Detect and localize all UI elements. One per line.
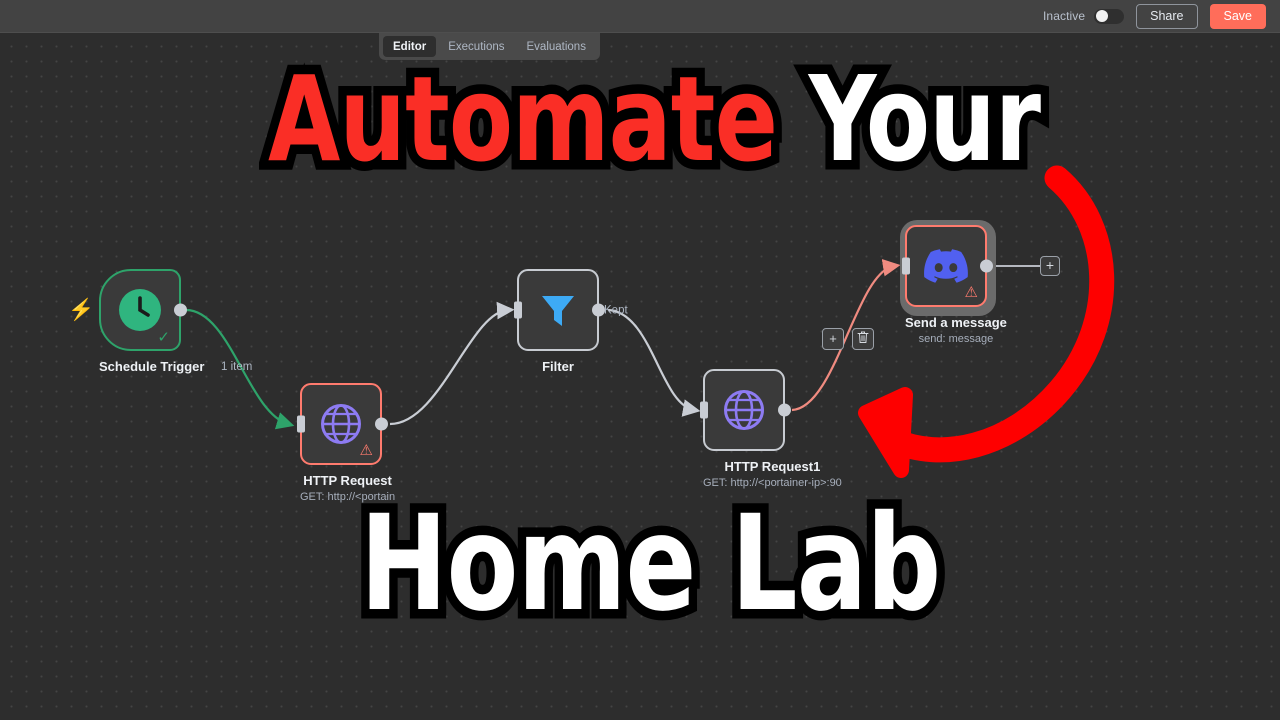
warning-triangle-icon: ⚠ xyxy=(360,443,373,458)
overlay-headline-bottom: Home Lab xyxy=(360,500,940,629)
output-port[interactable] xyxy=(375,418,388,431)
trash-icon xyxy=(857,331,869,344)
delete-node-button[interactable] xyxy=(852,328,874,350)
output-port[interactable]: Kept xyxy=(592,304,605,317)
overlay-word-automate: Automate xyxy=(268,50,777,188)
discord-icon xyxy=(924,249,968,283)
node-discord-send-message-subtitle: send: message xyxy=(905,333,1007,345)
warning-triangle-icon: ⚠ xyxy=(965,285,978,300)
share-button[interactable]: Share xyxy=(1136,4,1197,29)
tab-evaluations[interactable]: Evaluations xyxy=(517,36,596,57)
connection-label-1-item: 1 item xyxy=(221,361,252,373)
tab-editor[interactable]: Editor xyxy=(383,36,436,57)
activation-toggle[interactable] xyxy=(1094,9,1124,24)
node-toolbar[interactable]: + xyxy=(822,328,874,350)
node-discord-send-message-box[interactable]: ⚠ xyxy=(905,225,987,307)
activation-state-label: Inactive xyxy=(1043,9,1085,23)
node-http-request-1[interactable]: HTTP Request1 GET: http://<portainer-ip>… xyxy=(703,369,842,489)
node-discord-send-message[interactable]: ⚠ Send a message send: message xyxy=(905,225,1007,345)
node-http-request[interactable]: ⚠ HTTP Request GET: http://<portain xyxy=(300,383,395,503)
node-schedule-trigger-box[interactable]: ⚡ ✓ xyxy=(99,269,181,351)
input-port[interactable] xyxy=(297,416,305,433)
top-bar: Inactive Share Save xyxy=(0,0,1280,33)
overlay-word-your: Your xyxy=(809,50,1040,188)
globe-icon xyxy=(723,389,765,431)
clock-icon xyxy=(118,288,162,332)
add-node-endpoint-button[interactable]: + xyxy=(1040,256,1060,276)
toggle-knob xyxy=(1096,10,1108,22)
node-filter-label: Filter xyxy=(517,359,599,374)
node-filter[interactable]: Kept Filter xyxy=(517,269,599,374)
workflow-tabs: Editor Executions Evaluations xyxy=(379,33,600,60)
output-port[interactable] xyxy=(980,260,993,273)
save-button[interactable]: Save xyxy=(1210,4,1267,29)
workflow-editor-app: ⚡ ✓ Schedule Trigger ⚠ HTTP Request GET xyxy=(0,0,1280,720)
node-discord-send-message-label: Send a message xyxy=(905,315,1007,330)
overlay-word-home-lab: Home Lab xyxy=(360,487,940,641)
success-check-icon: ✓ xyxy=(157,330,170,345)
output-port[interactable] xyxy=(778,404,791,417)
tab-executions[interactable]: Executions xyxy=(438,36,514,57)
input-port[interactable] xyxy=(902,258,910,275)
funnel-icon xyxy=(537,289,579,331)
overlay-headline-top: Automate Your xyxy=(268,62,1040,178)
lightning-bolt-icon: ⚡ xyxy=(68,300,94,321)
globe-icon xyxy=(320,403,362,445)
node-schedule-trigger-label: Schedule Trigger xyxy=(99,359,204,374)
node-http-request-box[interactable]: ⚠ xyxy=(300,383,382,465)
node-http-request-label: HTTP Request xyxy=(300,473,395,488)
node-http-request-1-box[interactable] xyxy=(703,369,785,451)
workflow-activation-control[interactable]: Inactive xyxy=(1043,9,1124,24)
input-port[interactable] xyxy=(700,402,708,419)
node-schedule-trigger[interactable]: ⚡ ✓ Schedule Trigger xyxy=(99,269,204,374)
output-port[interactable] xyxy=(174,304,187,317)
output-port-label: Kept xyxy=(604,304,628,316)
node-http-request-1-label: HTTP Request1 xyxy=(703,459,842,474)
input-port[interactable] xyxy=(514,302,522,319)
node-filter-box[interactable]: Kept xyxy=(517,269,599,351)
add-node-button[interactable]: + xyxy=(822,328,844,350)
